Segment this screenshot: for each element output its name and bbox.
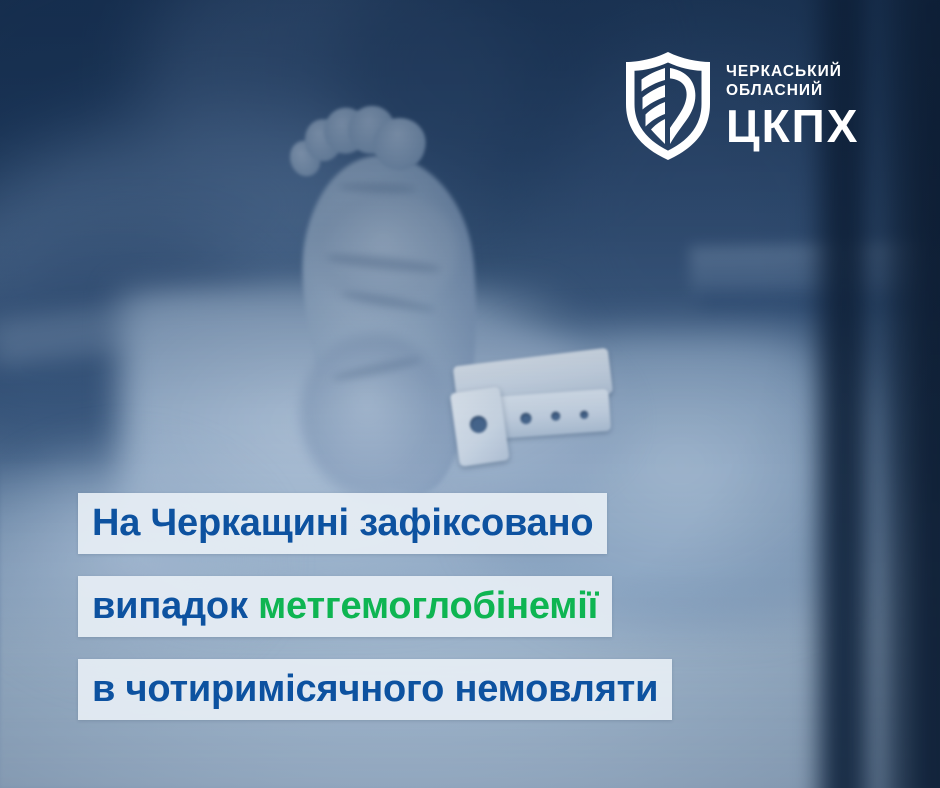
- logo-abbreviation: ЦКПХ: [726, 103, 859, 149]
- headline-line-2-prefix: випадок: [92, 585, 258, 627]
- headline-line-1: На Черкащині зафіксовано: [78, 493, 607, 554]
- logo-wordmark: ЧЕРКАСЬКИЙ ОБЛАСНИЙ ЦКПХ: [726, 63, 859, 149]
- shield-logo-icon: [624, 52, 712, 160]
- headline-block: На Черкащині зафіксовано випадок метгемо…: [78, 493, 672, 720]
- poster-canvas: ЧЕРКАСЬКИЙ ОБЛАСНИЙ ЦКПХ На Черкащині за…: [0, 0, 940, 788]
- organization-logo: ЧЕРКАСЬКИЙ ОБЛАСНИЙ ЦКПХ: [624, 52, 859, 160]
- logo-line-2: ОБЛАСНИЙ: [726, 82, 823, 100]
- headline-accent-term: метгемоглобінемії: [258, 585, 598, 627]
- logo-line-1: ЧЕРКАСЬКИЙ: [726, 63, 842, 81]
- headline-line-2: випадок метгемоглобінемії: [78, 576, 612, 637]
- headline-line-3: в чотиримісячного немовляти: [78, 659, 672, 720]
